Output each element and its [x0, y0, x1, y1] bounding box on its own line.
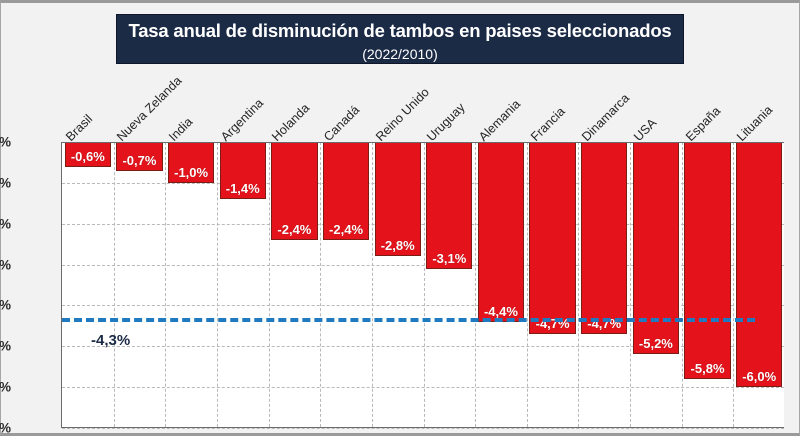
- bar[interactable]: -4,4%: [478, 142, 524, 322]
- chart-frame: Tasa anual de disminución de tambos en p…: [0, 0, 800, 436]
- bar-value-label: -2,4%: [324, 222, 368, 237]
- vertical-gridline: [527, 142, 528, 427]
- vertical-gridline: [320, 142, 321, 427]
- vertical-gridline: [114, 142, 115, 427]
- bar[interactable]: -2,4%: [323, 142, 369, 240]
- zero-axis-line: [62, 142, 784, 143]
- chart-subtitle: (2022/2010): [117, 47, 683, 61]
- x-axis-category-label: Canadá: [321, 103, 362, 144]
- x-axis-category-label: Francia: [528, 104, 568, 144]
- bar-value-label: -2,8%: [376, 238, 420, 253]
- x-axis-category-label: Uruguay: [424, 100, 468, 144]
- vertical-gridline: [682, 142, 683, 427]
- bar[interactable]: -0,6%: [65, 142, 111, 167]
- vertical-gridline: [630, 142, 631, 427]
- y-axis-tick-label: -3%: [0, 257, 11, 272]
- bar-value-label: -3,1%: [427, 251, 471, 266]
- bar[interactable]: -1,0%: [168, 142, 214, 183]
- x-axis-category-label: Brasil: [63, 112, 95, 144]
- bar[interactable]: -4,7%: [529, 142, 575, 334]
- x-axis-category-label: India: [166, 115, 195, 144]
- x-axis-category-label: Reino Unido: [373, 85, 432, 144]
- vertical-gridline: [578, 142, 579, 427]
- y-axis-tick-label: -2%: [0, 216, 11, 231]
- bar[interactable]: -2,4%: [271, 142, 317, 240]
- horizontal-gridline: [62, 428, 784, 429]
- vertical-gridline: [372, 142, 373, 427]
- x-axis-category-label: Holanda: [269, 101, 312, 144]
- bar[interactable]: -0,7%: [116, 142, 162, 171]
- average-reference-line: [62, 318, 755, 322]
- vertical-gridline: [269, 142, 270, 427]
- bar[interactable]: -4,7%: [581, 142, 627, 334]
- plot-area: -0,6%-0,7%-1,0%-1,4%-2,4%-2,4%-2,8%-3,1%…: [61, 142, 784, 428]
- y-axis-tick-label: 0%: [0, 135, 11, 150]
- x-axis-category-label: España: [683, 104, 723, 144]
- bar-value-label: -2,4%: [272, 222, 316, 237]
- x-axis-category-label: Lituania: [734, 103, 775, 144]
- x-axis-category-label: Argentina: [218, 96, 266, 144]
- bar[interactable]: -6,0%: [736, 142, 782, 387]
- vertical-gridline: [217, 142, 218, 427]
- page-title: Tasa anual de disminución de tambos en p…: [117, 22, 683, 41]
- bar-value-label: -1,0%: [169, 165, 213, 180]
- bar-value-label: -5,2%: [634, 336, 678, 351]
- bar[interactable]: -2,8%: [375, 142, 421, 256]
- bar-value-label: -1,4%: [221, 181, 265, 196]
- vertical-gridline: [165, 142, 166, 427]
- bar[interactable]: -5,2%: [633, 142, 679, 354]
- bar-value-label: -5,8%: [685, 361, 729, 376]
- vertical-gridline: [475, 142, 476, 427]
- y-axis-tick-label: -6%: [0, 380, 11, 395]
- chart-title-box: Tasa anual de disminución de tambos en p…: [116, 14, 684, 64]
- vertical-gridline: [424, 142, 425, 427]
- bar-value-label: -0,7%: [117, 153, 161, 168]
- y-axis-tick-label: -1%: [0, 175, 11, 190]
- average-value-label: -4,3%: [91, 332, 130, 349]
- bar[interactable]: -3,1%: [426, 142, 472, 269]
- y-axis-tick-label: -7%: [0, 421, 11, 436]
- x-axis-category-label: Alemania: [476, 97, 523, 144]
- bar[interactable]: -1,4%: [220, 142, 266, 199]
- bar[interactable]: -5,8%: [684, 142, 730, 379]
- bar-value-label: -6,0%: [737, 369, 781, 384]
- y-axis-tick-label: -5%: [0, 339, 11, 354]
- x-axis-category-label: USA: [631, 116, 659, 144]
- vertical-gridline: [733, 142, 734, 427]
- x-axis-category-label: Dinamarca: [579, 91, 632, 144]
- bar-value-label: -0,6%: [66, 149, 110, 164]
- y-axis-tick-label: -4%: [0, 298, 11, 313]
- bar-value-label: -4,4%: [479, 304, 523, 319]
